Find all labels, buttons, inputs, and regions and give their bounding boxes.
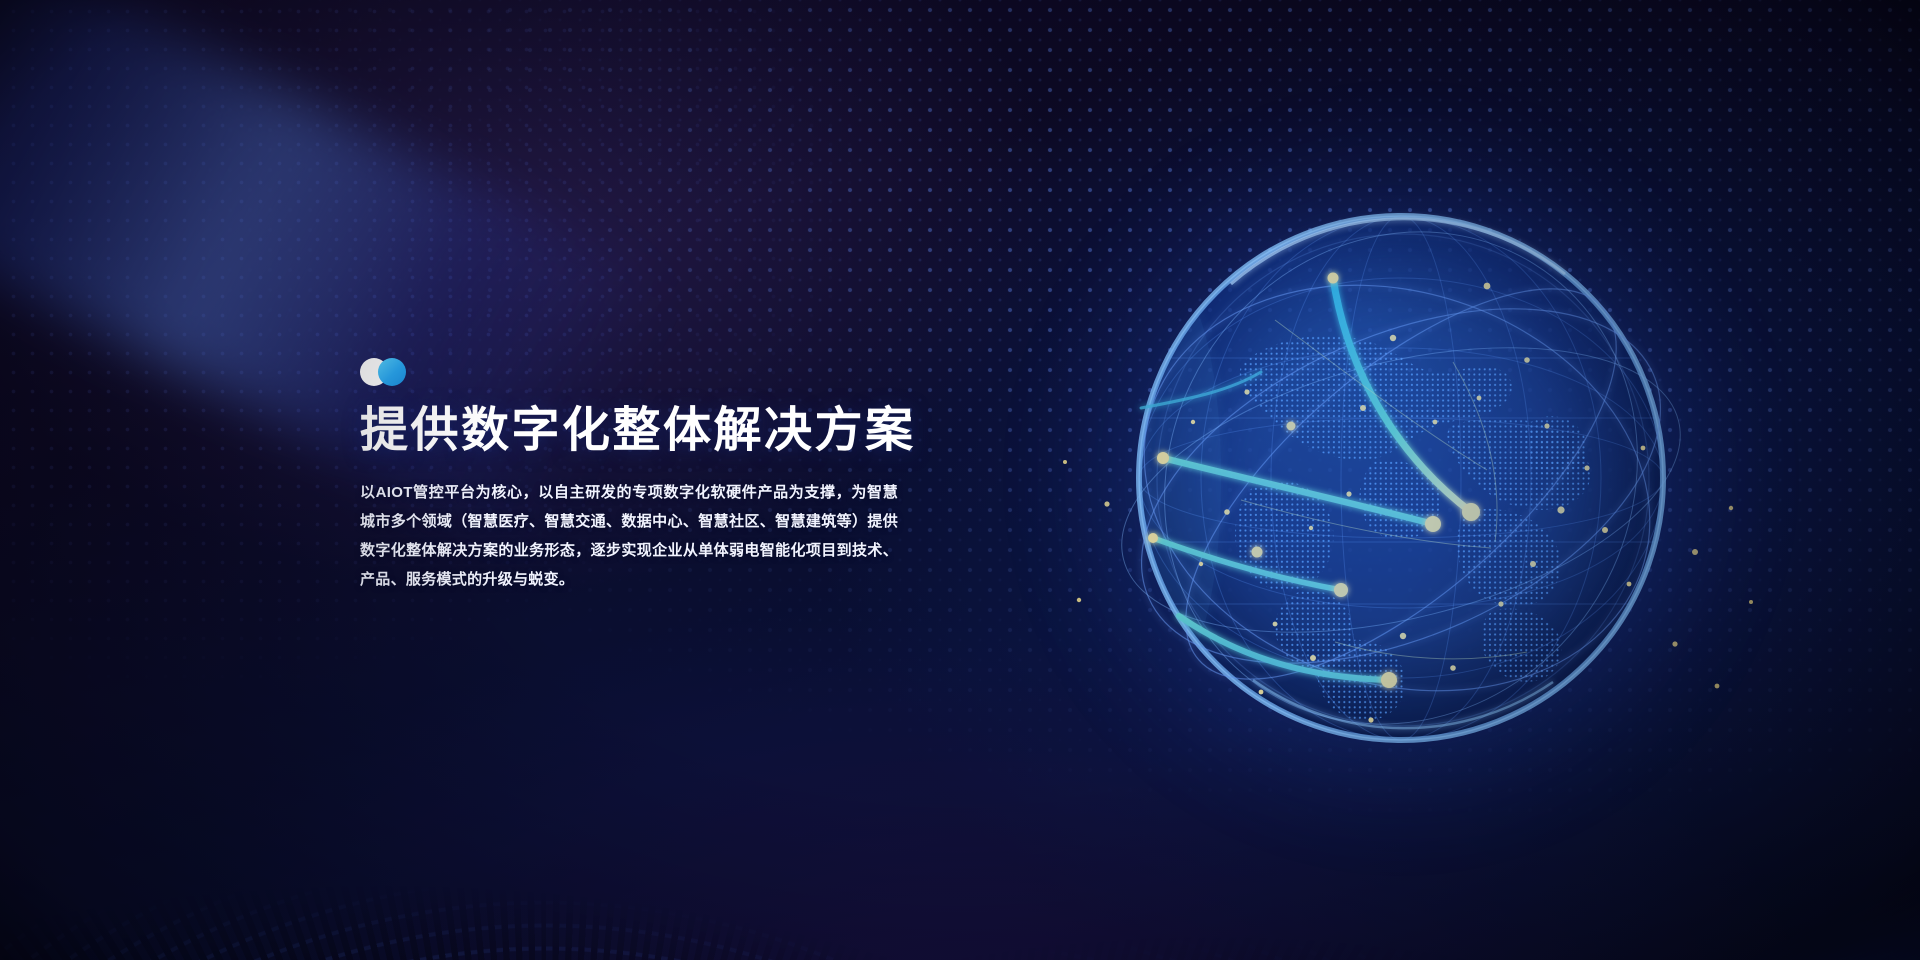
hero-banner: 提供数字化整体解决方案 以AIOT管控平台为核心，以自主研发的专项数字化软硬件产…: [0, 0, 1920, 960]
vignette-overlay: [0, 0, 1920, 960]
